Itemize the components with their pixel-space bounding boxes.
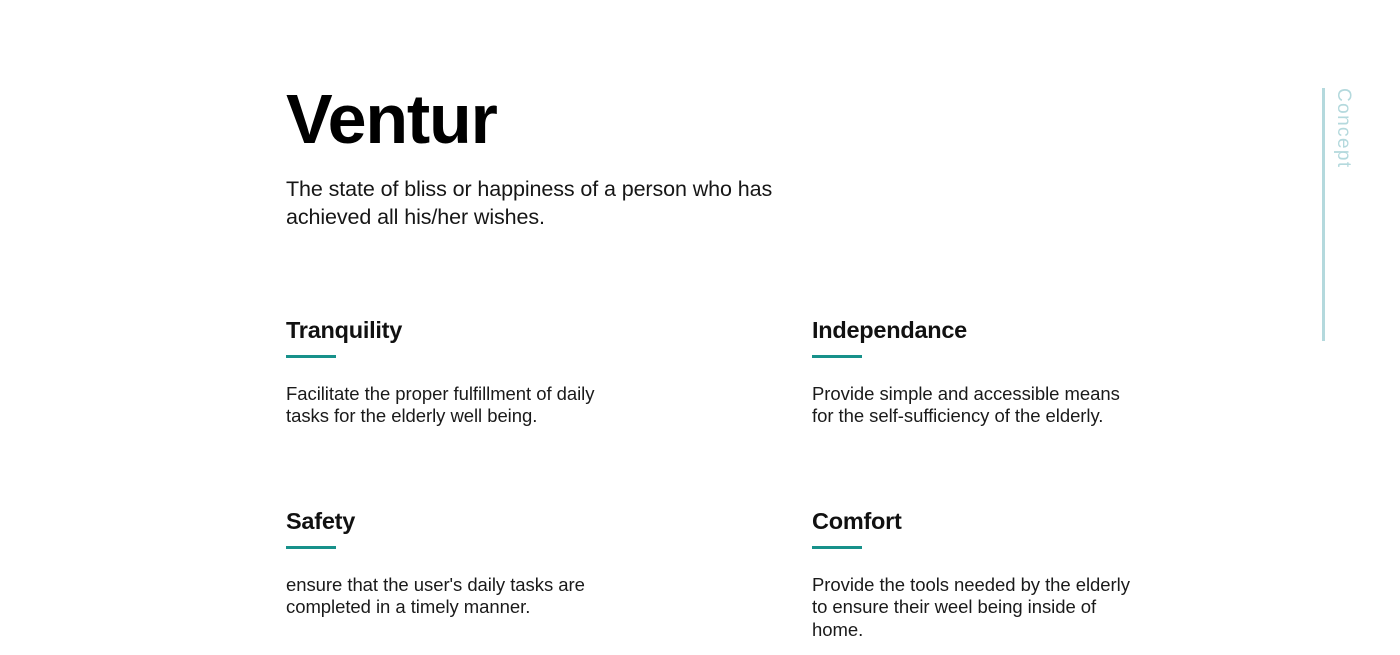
pillar-body: ensure that the user's daily tasks are c…	[286, 549, 616, 619]
concept-slide: Ventur The state of bliss or happiness o…	[0, 0, 1400, 655]
pillar-body: Provide simple and accessible means for …	[812, 358, 1142, 428]
brand-definition-text: The state of bliss or happiness of a per…	[286, 154, 776, 232]
pillar-title: Tranquility	[286, 318, 626, 344]
page-title: Ventur	[286, 84, 806, 154]
pillar-body: Facilitate the proper fulfillment of dai…	[286, 358, 616, 428]
pillars-grid: Tranquility Facilitate the proper fulfil…	[286, 318, 1206, 642]
section-marker-rule	[1322, 88, 1325, 341]
pillar-safety: Safety ensure that the user's daily task…	[286, 509, 626, 642]
pillar-title: Safety	[286, 509, 626, 535]
pillar-title: Comfort	[812, 509, 1152, 535]
pillar-title: Independance	[812, 318, 1152, 344]
pillar-tranquility: Tranquility Facilitate the proper fulfil…	[286, 318, 626, 428]
pillar-comfort: Comfort Provide the tools needed by the …	[812, 509, 1152, 642]
pillar-body: Provide the tools needed by the elderly …	[812, 549, 1142, 642]
section-marker: Concept	[1322, 88, 1353, 341]
pillar-independance: Independance Provide simple and accessib…	[812, 318, 1152, 428]
header-block: Ventur The state of bliss or happiness o…	[286, 84, 806, 232]
section-marker-label: Concept	[1334, 88, 1353, 169]
